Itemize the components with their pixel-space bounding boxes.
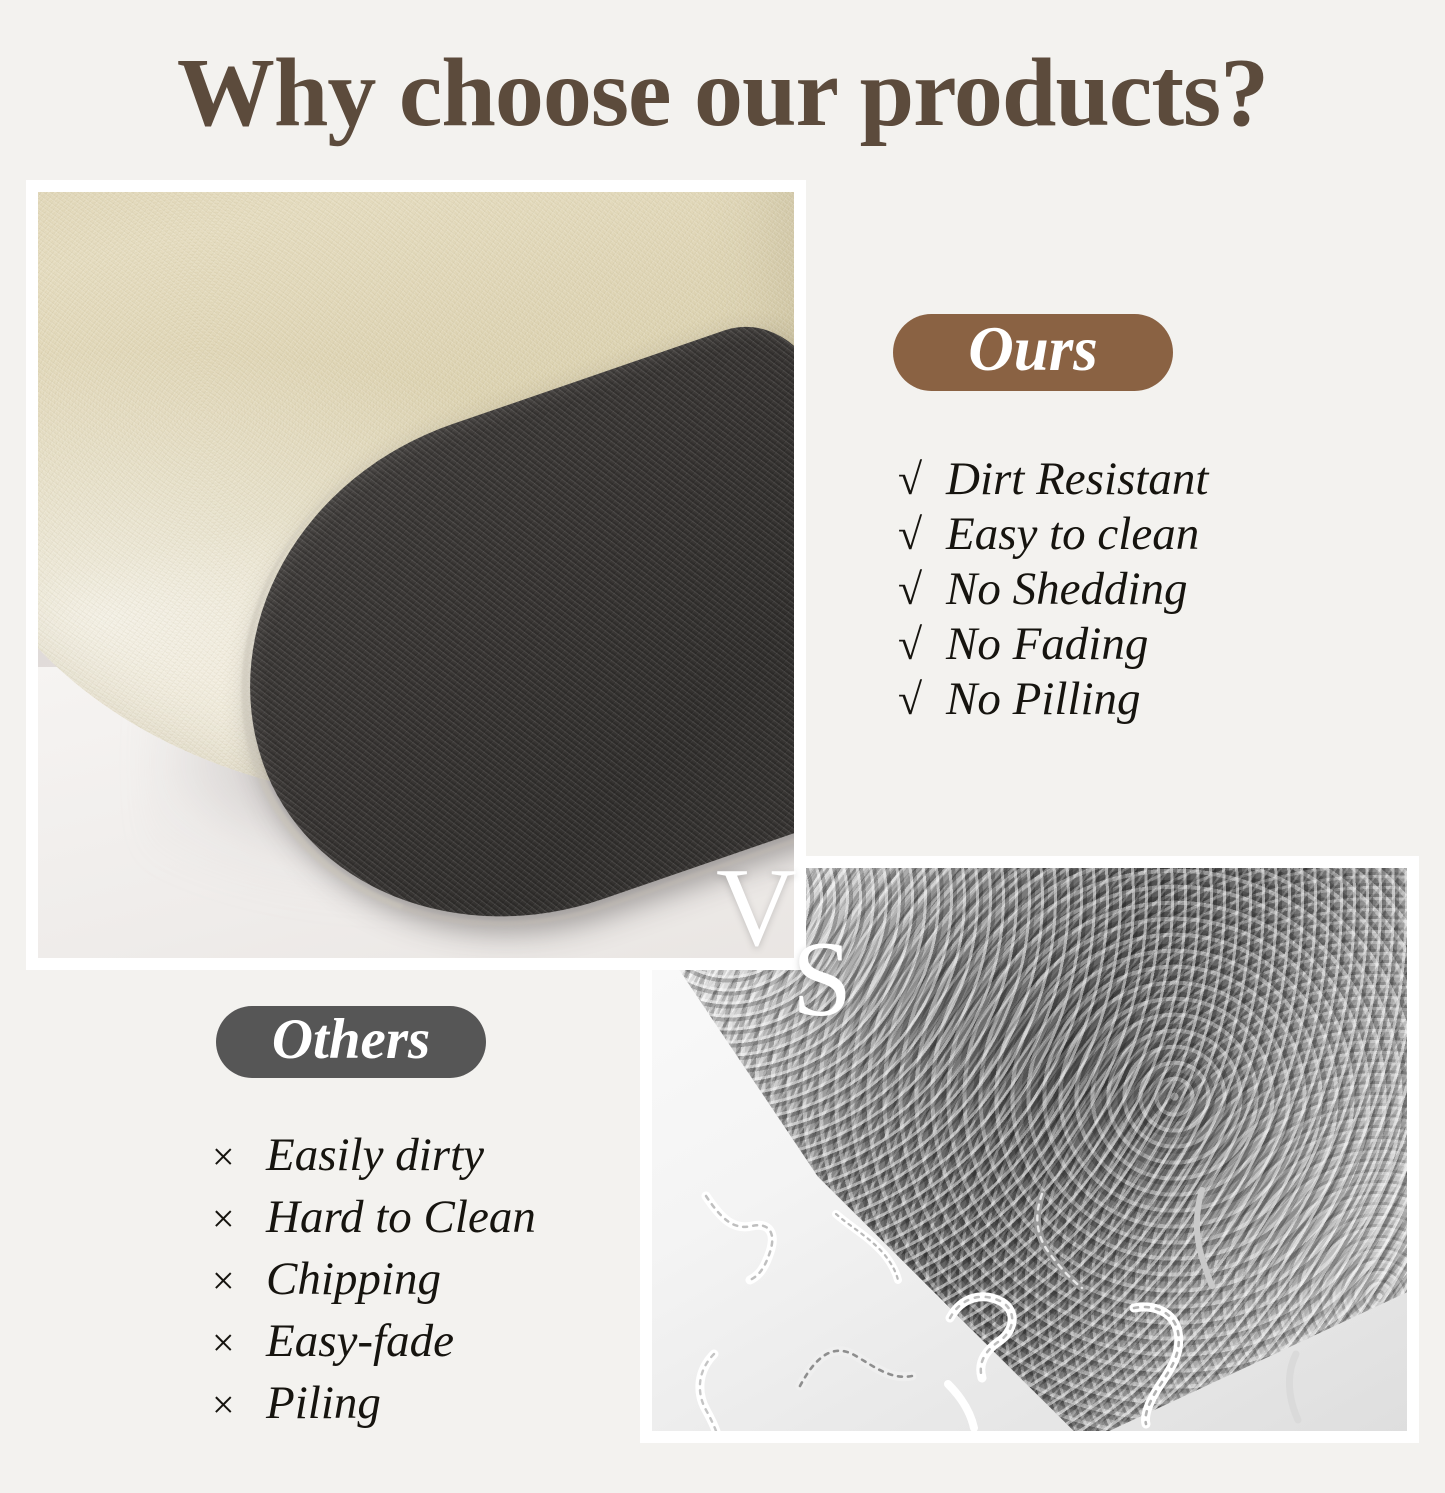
- shed-fiber-strand: [700, 1190, 820, 1285]
- cross-icon: ×: [212, 1250, 266, 1311]
- feature-label: No Shedding: [946, 562, 1188, 617]
- shed-fiber-strand: [1120, 1298, 1230, 1428]
- check-icon: √: [898, 617, 946, 672]
- list-item: √ Easy to clean: [898, 507, 1208, 562]
- list-item: × Easily dirty: [212, 1125, 536, 1187]
- feature-label: No Fading: [946, 617, 1148, 672]
- shed-fiber-strand: [1024, 1188, 1104, 1298]
- list-item: × Easy-fade: [212, 1311, 536, 1373]
- feature-label: No Pilling: [946, 672, 1141, 727]
- ours-product-photo: [26, 180, 806, 970]
- cross-icon: ×: [212, 1374, 266, 1435]
- check-icon: √: [898, 672, 946, 727]
- cross-icon: ×: [212, 1126, 266, 1187]
- list-item: √ No Pilling: [898, 672, 1208, 727]
- cross-icon: ×: [212, 1312, 266, 1373]
- shed-fiber-strand: [944, 1288, 1049, 1388]
- list-item: √ No Shedding: [898, 562, 1208, 617]
- shed-fiber-strand: [792, 1330, 922, 1422]
- feature-label: Dirt Resistant: [946, 452, 1208, 507]
- feature-label: Easy to clean: [946, 507, 1199, 562]
- cross-icon: ×: [212, 1188, 266, 1249]
- mat-scene: [38, 192, 794, 958]
- shed-fiber-strand: [828, 1206, 908, 1286]
- list-item: √ No Fading: [898, 617, 1208, 672]
- shed-fiber-strand: [684, 1346, 754, 1431]
- list-item: × Hard to Clean: [212, 1187, 536, 1249]
- shed-fiber-strand: [1172, 1186, 1232, 1291]
- check-icon: √: [898, 452, 946, 507]
- ours-photo-inner: [38, 192, 794, 958]
- others-badge: Others: [216, 1006, 486, 1078]
- list-item: × Piling: [212, 1373, 536, 1435]
- ours-feature-list: √ Dirt Resistant √ Easy to clean √ No Sh…: [898, 452, 1208, 727]
- list-item: × Chipping: [212, 1249, 536, 1311]
- list-item: √ Dirt Resistant: [898, 452, 1208, 507]
- shed-fiber-strand: [938, 1376, 996, 1431]
- shed-fiber-strand: [1270, 1348, 1324, 1428]
- feature-label: Easy-fade: [266, 1311, 454, 1372]
- feature-label: Hard to Clean: [266, 1187, 536, 1248]
- page-title: Why choose our products?: [0, 42, 1445, 145]
- feature-label: Easily dirty: [266, 1125, 484, 1186]
- others-feature-list: × Easily dirty × Hard to Clean × Chippin…: [212, 1125, 536, 1435]
- ours-badge: Ours: [893, 314, 1173, 391]
- check-icon: √: [898, 562, 946, 617]
- feature-label: Chipping: [266, 1249, 441, 1310]
- check-icon: √: [898, 507, 946, 562]
- feature-label: Piling: [266, 1373, 381, 1434]
